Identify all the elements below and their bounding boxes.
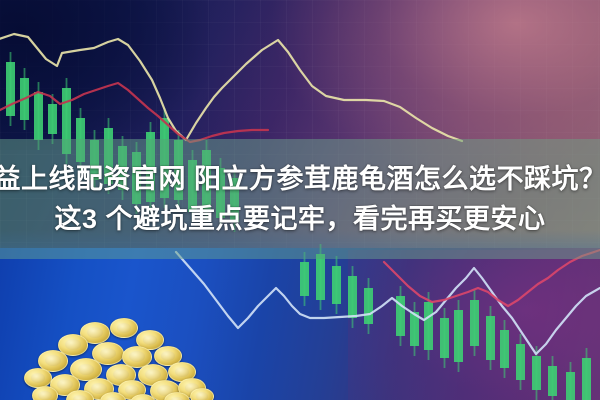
gold-coin: [32, 386, 58, 400]
candlestick-body: [300, 262, 309, 296]
cover-image-canvas: 益上线配资官网 阳立方参茸鹿龟酒怎么选不踩坑？ 这3 个避坑重点要记牢，看完再买…: [0, 0, 600, 400]
gold-coin: [190, 388, 214, 400]
candlestick-body: [364, 288, 373, 324]
candlestick-body: [454, 310, 463, 362]
candlestick-body: [316, 254, 325, 300]
headline-line-2: 这3 个避坑重点要记牢，看完再买更安心: [54, 200, 545, 238]
candlestick-body: [486, 316, 495, 360]
candlestick-body: [332, 266, 341, 304]
title-overlay-band: 益上线配资官网 阳立方参茸鹿龟酒怎么选不踩坑？ 这3 个避坑重点要记牢，看完再买…: [0, 139, 600, 259]
gold-coin: [24, 368, 52, 388]
headline-line-1: 益上线配资官网 阳立方参茸鹿龟酒怎么选不踩坑？: [0, 160, 600, 198]
candlestick-body: [500, 330, 509, 368]
gold-coin-pile: [18, 316, 208, 400]
candlestick-body: [566, 372, 575, 400]
candlestick-body: [548, 366, 557, 396]
candlestick-body: [424, 302, 433, 350]
candlestick-body: [48, 104, 57, 134]
candlestick-body: [440, 318, 449, 358]
candlestick-body: [6, 62, 15, 116]
candlestick-body: [470, 300, 479, 346]
candlestick-body: [516, 344, 525, 380]
candlestick-body: [34, 92, 43, 140]
candlestick-body: [532, 356, 541, 390]
candlestick-body: [582, 358, 591, 400]
gold-coin: [110, 318, 138, 338]
candlestick-body: [348, 276, 357, 318]
